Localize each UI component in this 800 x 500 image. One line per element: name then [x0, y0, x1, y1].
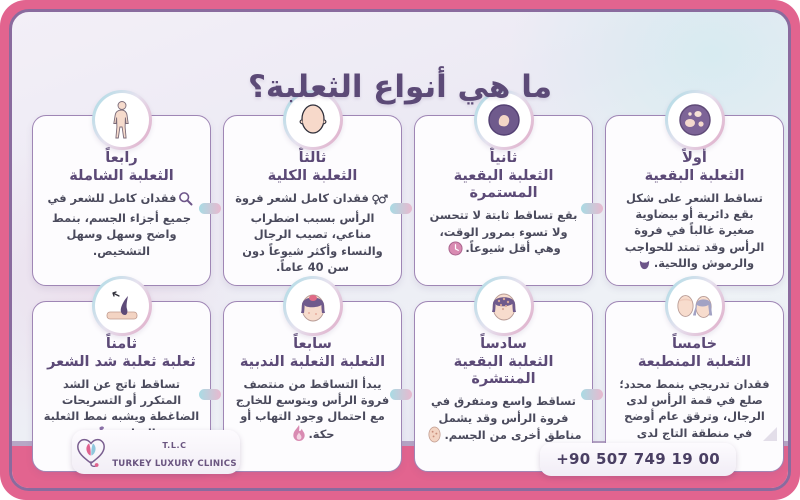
card-index-label: ثامناً — [43, 336, 200, 353]
card-index-label: خامساً — [616, 336, 773, 353]
card-index-label: ثالثاً — [234, 150, 391, 167]
card-description: فقدان كامل لشعر فروة الرأس بسبب اضطراب م… — [234, 190, 391, 275]
card-alopecia-areata[interactable]: أولاً الثعلبة البقعية تساقط الشعر على شك… — [605, 115, 784, 286]
heart-stethoscope-logo-icon — [75, 433, 107, 471]
card-index-label: أولاً — [616, 150, 773, 167]
card-index-label: سابعاً — [234, 336, 391, 353]
card-connector — [390, 203, 412, 214]
brand-logo-chip[interactable]: T.L.C TURKEY LUXURY CLINICS — [72, 430, 240, 474]
beard-icon — [637, 258, 652, 275]
corner-decoration-icon — [762, 426, 778, 442]
card-connector — [199, 203, 221, 214]
card-index-label: ثانياً — [425, 150, 582, 167]
magnifier-icon — [178, 191, 193, 210]
card-cicatricial-alopecia[interactable]: سابعاً الثعلبة الثعلبة الندبية يبدأ التس… — [223, 301, 402, 472]
brand-abbreviation: T.L.C — [162, 441, 186, 450]
poster-inner-frame: ما هي أنواع الثعلبة؟ — [9, 9, 791, 491]
diffuse-scalp-icon — [474, 276, 534, 336]
card-alopecia-totalis[interactable]: ثالثاً الثعلبة الكلية فقدان كامل لشعر فر… — [223, 115, 402, 286]
card-title: الثعلبة الثعلبة الندبية — [234, 354, 391, 371]
card-title: الثعلبة الكلية — [234, 168, 391, 185]
hair-follicle-pull-icon — [92, 276, 152, 336]
contact-phone-chip[interactable]: +90 507 749 19 00 — [540, 443, 736, 476]
card-description: تساقط الشعر على شكل بقع دائرية أو بيضاوي… — [616, 190, 773, 275]
inflamed-scalp-icon — [283, 276, 343, 336]
card-connector — [390, 389, 412, 400]
card-description: يبدأ التساقط من منتصف فروة الرأس ويتوسع … — [234, 376, 391, 446]
page-title: ما هي أنواع الثعلبة؟ — [248, 69, 552, 105]
card-title: الثعلبة البقعية — [616, 168, 773, 185]
card-connector — [581, 389, 603, 400]
card-title: الثعلبة البقعية المنتشرة — [425, 354, 582, 389]
cards-row-top: أولاً الثعلبة البقعية تساقط الشعر على شك… — [32, 115, 784, 286]
flame-icon — [292, 425, 306, 446]
card-title: الثعلبة البقعية المستمرة — [425, 168, 582, 203]
card-title: الثعلبة المنطبعة — [616, 354, 773, 371]
card-description: تساقط واسع ومتفرق في فروة الرأس وقد يشمل… — [425, 393, 582, 447]
card-connector — [581, 203, 603, 214]
card-alopecia-universalis[interactable]: رابعاً الثعلبة الشاملة فقدان كامل للشعر … — [32, 115, 211, 286]
card-index-label: رابعاً — [43, 150, 200, 167]
clock-icon — [448, 241, 463, 260]
card-title: ثعلبة ثعلبة شد الشعر — [43, 354, 200, 371]
card-connector — [199, 389, 221, 400]
card-description: بقع تساقط ثابتة لا تتحسن ولا تسوء بمرور … — [425, 207, 582, 260]
brand-logo-text: T.L.C TURKEY LUXURY CLINICS — [112, 434, 237, 469]
card-index-label: سادساً — [425, 336, 582, 353]
man-woman-heads-icon — [665, 276, 725, 336]
gender-symbols-icon — [371, 192, 388, 210]
page-title-wrapper: ما هي أنواع الثعلبة؟ — [12, 48, 788, 126]
infographic-poster: ما هي أنواع الثعلبة؟ — [0, 0, 800, 500]
card-persistent-patchy-alopecia[interactable]: ثانياً الثعلبة البقعية المستمرة بقع تساق… — [414, 115, 593, 286]
card-title: الثعلبة الشاملة — [43, 168, 200, 185]
card-description: فقدان كامل للشعر في جميع أجزاء الجسم، بن… — [43, 190, 200, 259]
cards-grid: أولاً الثعلبة البقعية تساقط الشعر على شك… — [32, 115, 784, 472]
spotted-scalp-icon — [427, 426, 442, 447]
brand-name: TURKEY LUXURY CLINICS — [112, 459, 237, 469]
